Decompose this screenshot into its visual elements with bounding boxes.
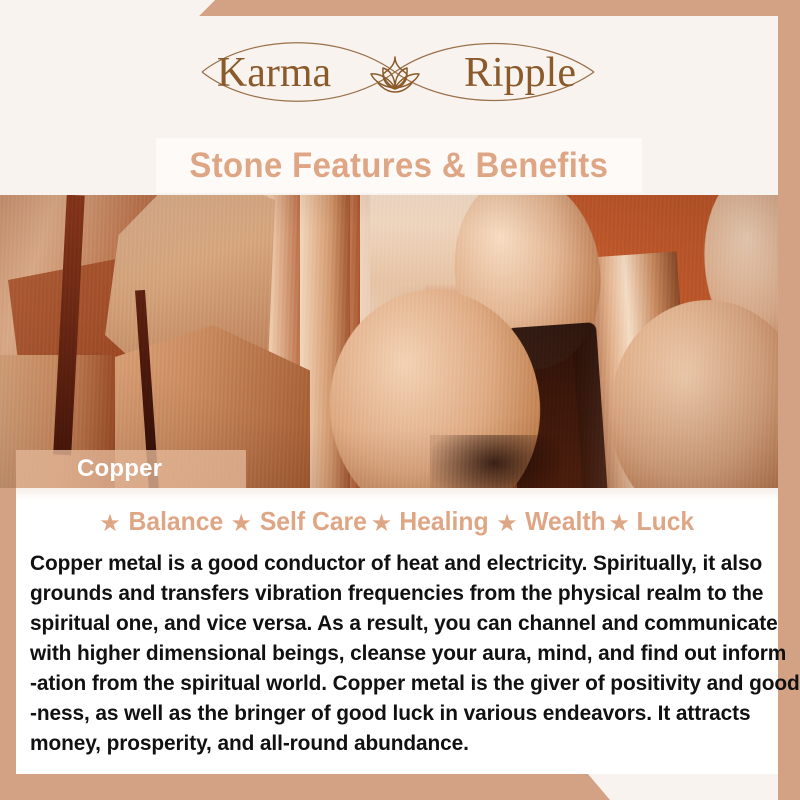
feature-item-luck: Luck — [637, 506, 695, 537]
description-line: -ation from the spiritual world. Copper … — [30, 668, 752, 698]
feature-item-healing: Healing — [400, 506, 489, 537]
page-header: Karma Ripple — [0, 0, 800, 138]
logo-text-right: Ripple — [464, 50, 576, 96]
copper-bars-photo — [0, 195, 778, 488]
description-text: Copper metal is a good conductor of heat… — [30, 548, 774, 758]
star-icon: ★ — [231, 512, 253, 536]
content-fade — [16, 488, 778, 500]
description-line: spiritual one, and vice versa. As a resu… — [30, 608, 752, 638]
product-infographic-page: Karma Ripple Stone Features & Benefits — [0, 0, 800, 800]
description-line: money, prosperity, and all-round abundan… — [30, 728, 752, 758]
logo-text-left: Karma — [217, 50, 332, 96]
title-band: Stone Features & Benefits — [156, 138, 642, 193]
description-line: -ness, as well as the bringer of good lu… — [30, 698, 752, 728]
page-title: Stone Features & Benefits — [190, 146, 609, 186]
description-line: with higher dimensional beings, cleanse … — [30, 638, 752, 668]
frame-bottom-border — [0, 774, 800, 800]
brand-logo: Karma Ripple — [190, 26, 610, 122]
description-line: grounds and transfers vibration frequenc… — [30, 578, 752, 608]
star-icon: ★ — [609, 512, 631, 536]
description-line: Copper metal is a good conductor of heat… — [30, 548, 752, 578]
feature-item-wealth: Wealth — [525, 506, 606, 537]
photo-caption-label: Copper — [77, 455, 162, 483]
feature-item-balance: Balance — [128, 506, 223, 537]
star-icon: ★ — [99, 512, 121, 536]
star-icon: ★ — [371, 512, 393, 536]
photo-caption-bar: Copper — [16, 450, 246, 488]
feature-item-self-care: Self Care — [260, 506, 367, 537]
star-icon: ★ — [496, 512, 518, 536]
logo-svg: Karma Ripple — [190, 26, 610, 122]
content-panel: ★Balance★Self Care★Healing★Wealth★Luck C… — [16, 488, 778, 774]
features-row: ★Balance★Self Care★Healing★Wealth★Luck — [16, 506, 778, 537]
